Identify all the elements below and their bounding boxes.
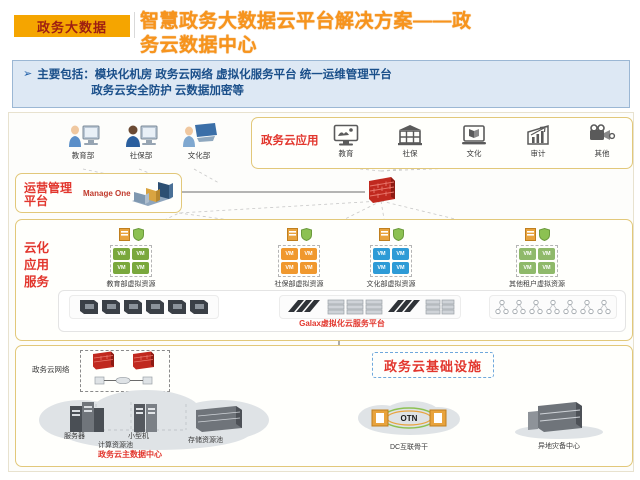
center-firewall-icon: [365, 175, 399, 207]
shield-icon: [133, 228, 144, 241]
galax-platform-label: Galax虚拟化云服务平台: [59, 318, 625, 329]
storage-box-icon: [287, 228, 298, 241]
cloud-infrastructure-title: 政务云基础设施: [372, 352, 494, 378]
user-computer-icon: [55, 119, 111, 149]
router-icon: [95, 377, 152, 384]
cloud-service-panel: 云化应用服务 VM VM VM VM 教育部虚拟资源: [15, 219, 633, 341]
shield-icon: [539, 228, 550, 241]
slide-root: 政务大数据 智慧政务大数据云平台解决方案——政 务云数据中心 ➢ 主要包括：模块…: [0, 0, 640, 480]
vm-group-label: 其他租户虚拟资源: [504, 279, 570, 289]
app-label: 社保: [388, 148, 432, 159]
app-culture[interactable]: 文化: [452, 122, 496, 159]
user-label: 社保部: [113, 150, 169, 161]
server-label: 服务器: [64, 431, 85, 441]
building-icon: [388, 122, 432, 148]
vm-node: VM: [300, 248, 317, 260]
storage-box-icon: [119, 228, 130, 241]
shield-icon: [393, 228, 404, 241]
vm-node: VM: [113, 262, 130, 274]
shield-icon: [301, 228, 312, 241]
vm-node: VM: [281, 248, 298, 260]
vm-group-header: [504, 228, 570, 241]
summary-note-box: ➢ 主要包括：模块化机房 政务云网络 虚拟化服务平台 统一运维管理平台 政务云安…: [12, 60, 630, 108]
department-user-group: 教育部 社保部: [55, 119, 235, 171]
cloud-network-label: 政务云网络: [32, 364, 70, 375]
vm-node: VM: [113, 248, 130, 260]
vm-node: VM: [519, 262, 536, 274]
network-topology-group: [489, 295, 617, 319]
app-social-security[interactable]: 社保: [388, 122, 432, 159]
app-audit[interactable]: 审计: [516, 122, 560, 159]
storage-icon: [196, 406, 242, 432]
vm-grid: VM VM VM VM: [516, 245, 558, 277]
camera-icon: [580, 122, 624, 148]
header-divider: [134, 12, 135, 38]
storage-pool-label: 存储资源池: [188, 435, 223, 445]
bar-chart-icon: [516, 122, 560, 148]
storage-icon: [528, 402, 582, 432]
cloud-service-label: 云化应用服务: [24, 240, 54, 291]
cloud-application-panel: 政务云应用 教育: [251, 117, 633, 169]
note-line-2: 政务云安全防护 云数据加密等: [37, 83, 392, 99]
architecture-diagram: 教育部 社保部: [8, 112, 634, 472]
switch-storage-group: [279, 295, 461, 319]
dr-center-label: 异地灾备中心: [504, 441, 614, 451]
vm-grid: VM VM VM VM: [110, 245, 152, 277]
app-other[interactable]: 其他: [580, 122, 624, 159]
galax-platform-strip: Galax虚拟化云服务平台: [58, 290, 626, 332]
cloud-application-label: 政务云应用: [261, 135, 319, 148]
firewall-icon: [133, 352, 154, 370]
user-culture: 文化部: [171, 119, 227, 161]
firewall-icon: [93, 352, 114, 370]
header-badge: 政务大数据: [14, 15, 130, 37]
app-label: 教育: [324, 148, 368, 159]
vm-node: VM: [281, 262, 298, 274]
vm-grid: VM VM VM VM: [278, 245, 320, 277]
user-social-security: 社保部: [113, 119, 169, 161]
vm-grid: VM VM VM VM: [370, 245, 412, 277]
monitor-icon: [324, 122, 368, 148]
vm-node: VM: [392, 262, 409, 274]
server-rack-icon: [128, 179, 176, 209]
vm-group-social-security: VM VM VM VM 社保部虚拟资源: [266, 228, 332, 289]
user-computer-icon: [171, 119, 227, 149]
storage-box-icon: [379, 228, 390, 241]
main-datacenter-label: 政务云主数据中心: [98, 449, 162, 460]
book-laptop-icon: [452, 122, 496, 148]
slide-header: 政务大数据 智慧政务大数据云平台解决方案——政 务云数据中心: [0, 0, 640, 52]
user-label: 教育部: [55, 150, 111, 161]
bullet-icon: ➢: [23, 67, 32, 81]
note-line-1: 主要包括：模块化机房 政务云网络 虚拟化服务平台 统一运维管理平台: [37, 67, 392, 83]
blade-servers-group: [69, 295, 219, 319]
vm-node: VM: [300, 262, 317, 274]
vm-node: VM: [538, 248, 555, 260]
storage-box-icon: [525, 228, 536, 241]
user-label: 文化部: [171, 150, 227, 161]
page-title-line1: 智慧政务大数据云平台解决方案——政: [140, 10, 570, 34]
main-datacenter-cloud: 服务器 小型机 存储资源池 计算资源池 政务云主数据中心: [36, 386, 276, 458]
vm-group-other-tenants: VM VM VM VM 其他租户虚拟资源: [504, 228, 570, 289]
user-computer-icon: [113, 119, 169, 149]
vm-group-header: [98, 228, 164, 241]
vm-node: VM: [519, 248, 536, 260]
app-label: 审计: [516, 148, 560, 159]
otn-tag: OTN: [401, 414, 418, 423]
cloud-application-items: 教育 社保: [324, 122, 624, 159]
vm-node: VM: [392, 248, 409, 260]
operation-management-panel: 运营管理平台 Manage One: [15, 173, 182, 213]
vm-group-label: 社保部虚拟资源: [266, 279, 332, 289]
user-education: 教育部: [55, 119, 111, 161]
vm-group-culture: VM VM VM VM 文化部虚拟资源: [358, 228, 424, 289]
disaster-recovery-center: 异地灾备中心: [504, 396, 614, 452]
vm-node: VM: [132, 248, 149, 260]
page-title: 智慧政务大数据云平台解决方案——政 务云数据中心: [140, 10, 570, 56]
vm-group-education: VM VM VM VM 教育部虚拟资源: [98, 228, 164, 289]
vm-group-header: [266, 228, 332, 241]
app-label: 其他: [580, 148, 624, 159]
app-education[interactable]: 教育: [324, 122, 368, 159]
dc-backbone: OTN DC互联骨干: [354, 398, 464, 452]
vm-node: VM: [132, 262, 149, 274]
vm-node: VM: [373, 248, 390, 260]
manage-one-label: Manage One: [83, 189, 131, 198]
page-title-line2: 务云数据中心: [140, 34, 570, 56]
vm-node: VM: [373, 262, 390, 274]
vm-group-label: 文化部虚拟资源: [358, 279, 424, 289]
operation-management-label: 运营管理平台: [24, 182, 80, 208]
app-label: 文化: [452, 148, 496, 159]
backbone-label: DC互联骨干: [354, 442, 464, 452]
cloud-infrastructure-panel: 政务云基础设施 政务云网络: [15, 345, 633, 467]
vm-group-header: [358, 228, 424, 241]
vm-group-label: 教育部虚拟资源: [98, 279, 164, 289]
vm-node: VM: [538, 262, 555, 274]
